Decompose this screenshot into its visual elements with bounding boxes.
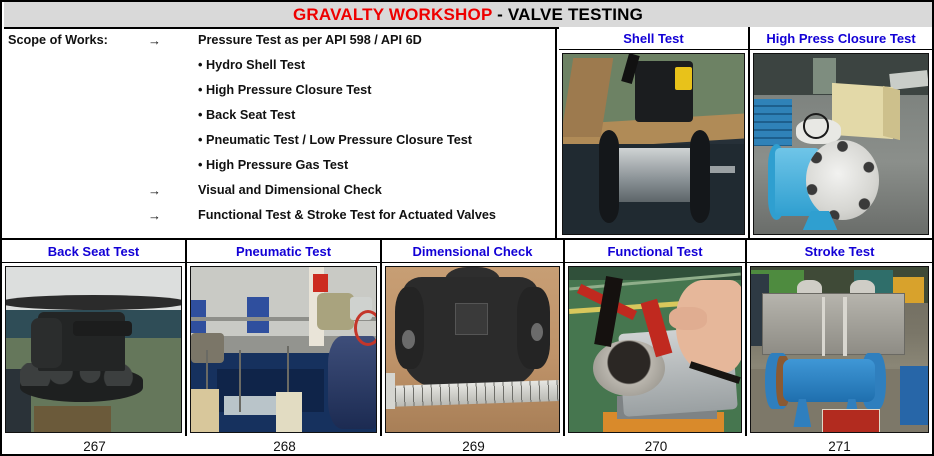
photo-cell-pneumatic-test: Pneumatic Test [187,240,382,436]
photo-detail [843,297,847,356]
scope-row: • Back Seat Test [8,108,551,133]
photo-detail [783,359,875,402]
caption-number-cell: 268 [187,436,382,456]
scope-item-text: Back Seat Test [206,108,295,122]
scope-bullet-item: • Hydro Shell Test [198,58,551,72]
photo-detail [239,350,241,413]
photo-detail [386,379,560,406]
bullet-icon: • [198,58,202,72]
photo-detail [313,274,328,292]
photo-frame [750,50,932,238]
bullet-icon: • [198,83,202,97]
photo-detail [803,113,830,139]
scope-bullet-item: • High Pressure Closure Test [198,83,551,97]
photo-cell-dimensional-check: Dimensional Check [382,240,565,436]
photo-cell-shell-test: Shell Test [559,27,750,238]
photo-back-seat-test [5,266,182,433]
scope-row: • Hydro Shell Test [8,58,551,83]
photo-detail [822,409,881,433]
scope-bullet-item: • Pneumatic Test / Low Pressure Closure … [198,133,551,147]
scope-item-text: Pressure Test as per API 598 / API 6D [198,33,551,47]
scope-row: • High Pressure Gas Test [8,158,551,183]
photo-number: 268 [273,439,296,454]
photo-detail [73,321,133,336]
scope-row: • Pneumatic Test / Low Pressure Closure … [8,133,551,158]
bottom-photo-row: Back Seat Test Pneumatic Test [2,240,932,436]
scope-bullet-item: • Back Seat Test [198,108,551,122]
caption-number-cell: 270 [565,436,747,456]
scope-row: • High Pressure Closure Test [8,83,551,108]
photo-detail [31,318,63,368]
photo-detail [5,295,182,310]
photo-detail [569,267,741,280]
page-title: GRAVALTY WORKSHOP - VALVE TESTING [293,5,643,25]
photo-detail [690,130,710,224]
photo-detail [675,67,691,90]
upper-region: Scope of Works: → Pressure Test as per A… [2,27,932,238]
photo-detail [612,148,699,202]
photo-detail [276,392,302,432]
arrow-icon: → [148,33,198,48]
photo-caption-header: Pneumatic Test [187,240,380,263]
photo-frame [187,263,380,436]
photo-detail [822,297,826,356]
bottom-caption-number-row: 267 268 269 270 271 [2,436,932,456]
scope-item-text: Hydro Shell Test [206,58,305,72]
photo-frame [559,50,748,238]
arrow-icon: → [148,183,198,198]
photo-detail [669,307,707,330]
photo-detail [806,140,879,219]
photo-number: 267 [83,439,106,454]
scope-label: Scope of Works: [8,33,148,47]
photo-detail [754,99,792,146]
scope-item-text: Pneumatic Test / Low Pressure Closure Te… [206,133,472,147]
top-photo-row: Shell Test [559,27,932,238]
photo-detail [455,303,488,335]
bullet-icon: • [198,108,202,122]
scope-row: → Functional Test & Stroke Test for Actu… [8,208,551,233]
valve-testing-sheet: GRAVALTY WORKSHOP - VALVE TESTING Scope … [0,0,934,456]
photo-caption-header: Functional Test [565,240,745,263]
photo-detail [599,130,619,224]
photo-detail [317,293,354,329]
photo-caption-header: Back Seat Test [2,240,185,263]
bullet-icon: • [198,133,202,147]
photo-number: 271 [828,439,851,454]
photo-detail [191,389,219,432]
caption-number-cell: 267 [2,436,187,456]
photo-detail [224,396,283,416]
photo-number: 269 [462,439,485,454]
photo-detail [386,373,395,409]
photo-caption-header: High Press Closure Test [750,27,932,50]
scope-of-works-panel: Scope of Works: → Pressure Test as per A… [2,27,557,238]
photo-dimensional-check [385,266,560,433]
photo-caption-header: Stroke Test [747,240,932,263]
photo-detail [762,293,906,354]
scope-item-text: Visual and Dimensional Check [198,183,551,197]
page-title-bar: GRAVALTY WORKSHOP - VALVE TESTING [4,2,932,29]
photo-caption-header: Shell Test [559,27,748,50]
photo-cell-stroke-test: Stroke Test [747,240,932,436]
photo-shell-test [562,53,745,235]
bullet-icon: • [198,158,202,172]
photo-detail [247,297,269,333]
photo-detail [328,336,376,428]
scope-item-text: Functional Test & Stroke Test for Actuat… [198,208,551,222]
scope-row: Scope of Works: → Pressure Test as per A… [8,33,551,58]
photo-cell-back-seat-test: Back Seat Test [2,240,187,436]
scope-item-text: High Pressure Closure Test [206,83,371,97]
photo-caption-header: Dimensional Check [382,240,563,263]
photo-cell-high-press-closure-test: High Press Closure Test [750,27,932,238]
photo-frame [2,263,185,436]
scope-bullet-item: • High Pressure Gas Test [198,158,551,172]
photo-high-press-closure-test [753,53,929,235]
photo-number: 270 [645,439,668,454]
photo-stroke-test [750,266,929,433]
scope-item-text: High Pressure Gas Test [206,158,348,172]
photo-functional-test [568,266,742,433]
photo-cell-functional-test: Functional Test [565,240,747,436]
photo-detail [34,406,111,432]
photo-pneumatic-test [190,266,377,433]
arrow-icon: → [148,208,198,223]
scope-row: → Visual and Dimensional Check [8,183,551,208]
photo-detail [900,366,928,425]
page-title-rest: - VALVE TESTING [492,5,643,24]
caption-number-cell: 271 [747,436,932,456]
caption-number-cell: 269 [382,436,565,456]
photo-detail [883,86,900,141]
photo-detail [354,310,377,346]
photo-detail [395,287,424,370]
photo-frame [565,263,745,436]
photo-frame [382,263,563,436]
photo-frame [747,263,932,436]
page-title-highlight: GRAVALTY WORKSHOP [293,5,492,24]
